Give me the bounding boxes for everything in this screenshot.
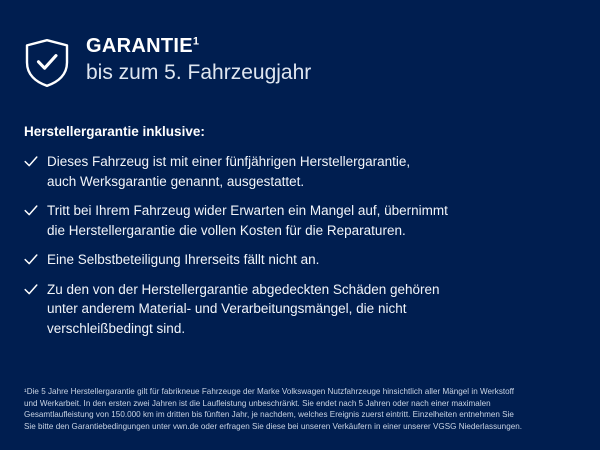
check-icon [24,152,41,171]
list-item-text: Dieses Fahrzeug ist mit einer fünfjährig… [47,152,410,191]
list-item: Eine Selbstbeteiligung Ihrerseits fällt … [24,250,576,270]
check-icon [24,201,41,220]
list-item: Dieses Fahrzeug ist mit einer fünfjährig… [24,152,576,191]
footnote-text: ¹Die 5 Jahre Herstellergarantie gilt für… [24,386,578,432]
list-item: Tritt bei Ihrem Fahrzeug wider Erwarten … [24,201,576,240]
list-item-text: Eine Selbstbeteiligung Ihrerseits fällt … [47,250,319,270]
check-icon [24,280,41,299]
guarantee-info-panel: GARANTIE1 bis zum 5. Fahrzeugjahr Herste… [0,0,600,450]
list-item-text: Tritt bei Ihrem Fahrzeug wider Erwarten … [47,201,448,240]
check-icon [24,250,41,269]
page-title-superscript: 1 [193,35,199,47]
header-text-group: GARANTIE1 bis zum 5. Fahrzeugjahr [86,34,311,86]
content-section: Herstellergarantie inklusive: Dieses Fah… [24,122,576,338]
page-subtitle: bis zum 5. Fahrzeugjahr [86,59,311,86]
list-item: Zu den von der Herstellergarantie abgede… [24,280,576,339]
page-title: GARANTIE1 [86,34,311,58]
list-item-text: Zu den von der Herstellergarantie abgede… [47,280,440,339]
section-lead-text: Herstellergarantie inklusive: [24,122,576,141]
shield-check-icon [24,38,70,88]
page-title-label: GARANTIE [86,35,193,57]
header: GARANTIE1 bis zum 5. Fahrzeugjahr [24,34,311,88]
